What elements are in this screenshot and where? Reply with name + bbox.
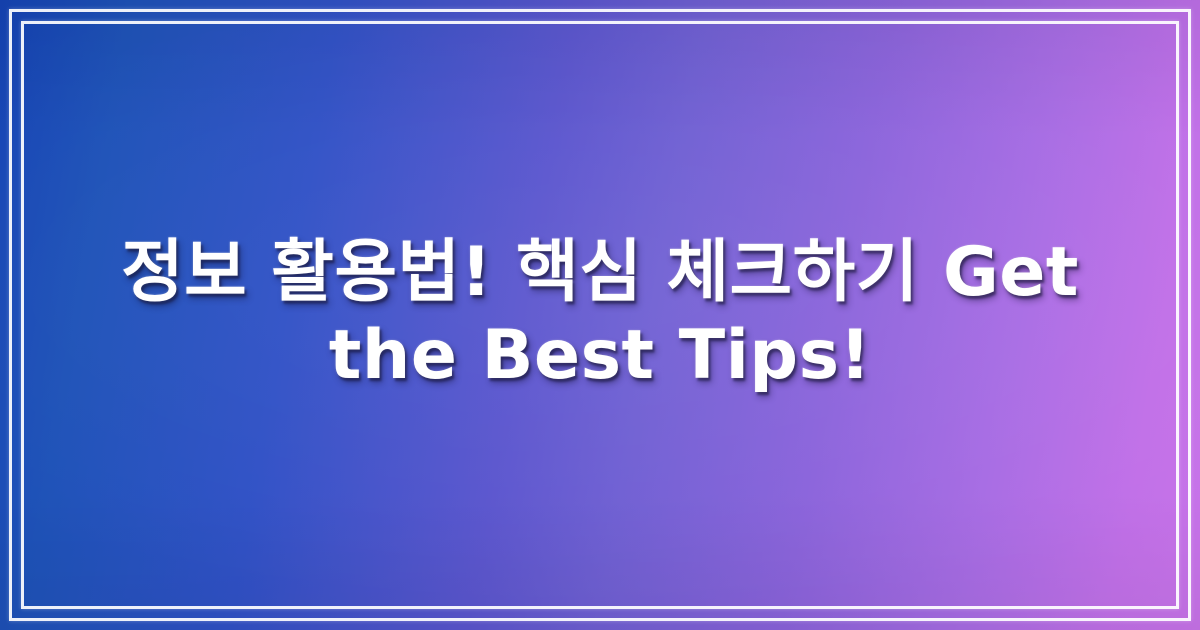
banner-headline: 정보 활용법! 핵심 체크하기 Get the Best Tips! [96,232,1104,398]
banner-content: 정보 활용법! 핵심 체크하기 Get the Best Tips! [0,0,1200,630]
promo-banner-card: 정보 활용법! 핵심 체크하기 Get the Best Tips! [0,0,1200,630]
